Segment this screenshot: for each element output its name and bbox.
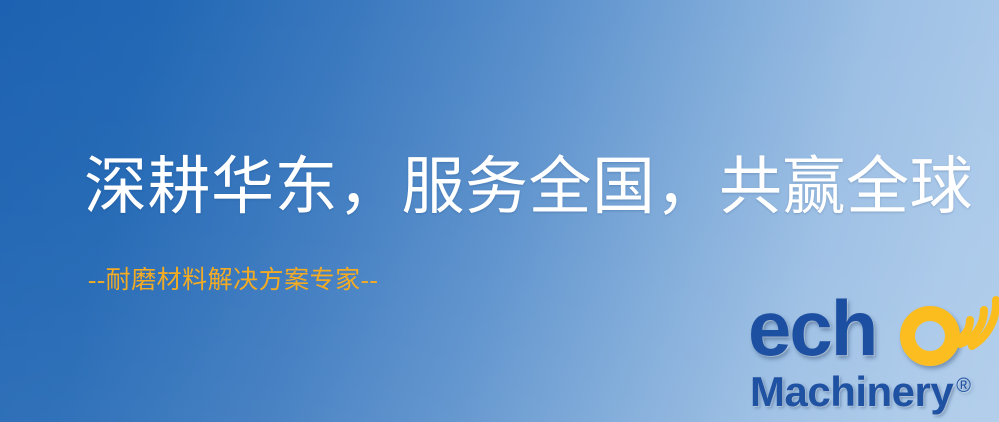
logo-wordmark-row: ech: [748, 292, 876, 364]
registered-trademark-icon: ®: [956, 375, 970, 397]
promo-banner: 深耕华东，服务全国，共赢全球 --耐磨材料解决方案专家-- ech Machin…: [0, 0, 999, 422]
logo-machinery-word: Machinery: [750, 368, 953, 415]
signal-waves-icon: [934, 286, 999, 350]
logo-subtext-machinery: Machinery®: [750, 368, 971, 416]
logo-text-ech: ech: [748, 284, 876, 372]
banner-subtitle: --耐磨材料解决方案专家--: [88, 266, 378, 296]
banner-headline: 深耕华东，服务全国，共赢全球: [84, 152, 973, 223]
echo-machinery-logo: ech Machinery®: [748, 292, 999, 418]
